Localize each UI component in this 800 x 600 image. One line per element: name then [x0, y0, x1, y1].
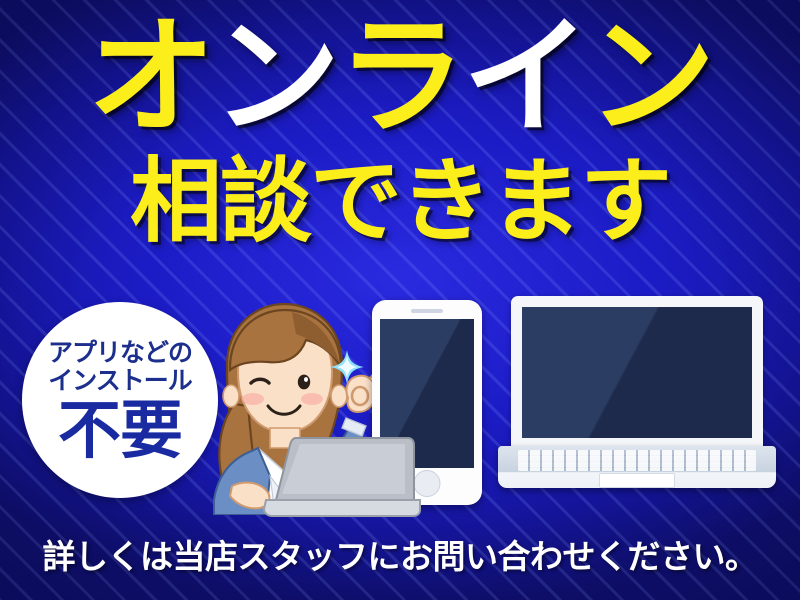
headline-char-3: ラ	[337, 14, 462, 142]
laptop-base	[498, 446, 776, 488]
headline-primary: オンライン	[0, 14, 800, 142]
laptop-lid	[511, 296, 763, 449]
badge-emphasis: 不要	[58, 399, 182, 462]
laptop-keyboard	[518, 450, 756, 471]
laptop-trackpad	[599, 473, 675, 488]
phone-speaker	[411, 309, 443, 313]
headline-char-2: ン	[212, 14, 337, 142]
footer-caption: 詳しくは当店スタッフにお問い合わせください。	[0, 530, 800, 578]
woman-laptop-illustration	[262, 436, 422, 520]
badge-line-2: インストール	[48, 367, 192, 395]
badge-line-1: アプリなどの	[48, 339, 192, 367]
headline-char-5: ン	[588, 14, 713, 142]
headline-secondary: 相談できます	[0, 156, 800, 248]
headline-char-1: オ	[87, 14, 212, 142]
sparkle-icon	[330, 350, 364, 384]
online-consultation-banner: オンライン 相談できます アプリなどの インストール 不要	[0, 0, 800, 600]
no-install-badge: アプリなどの インストール 不要	[22, 302, 218, 498]
laptop-illustration	[498, 296, 776, 488]
laptop-screen	[522, 307, 752, 438]
headline-char-4: イ	[463, 14, 588, 142]
